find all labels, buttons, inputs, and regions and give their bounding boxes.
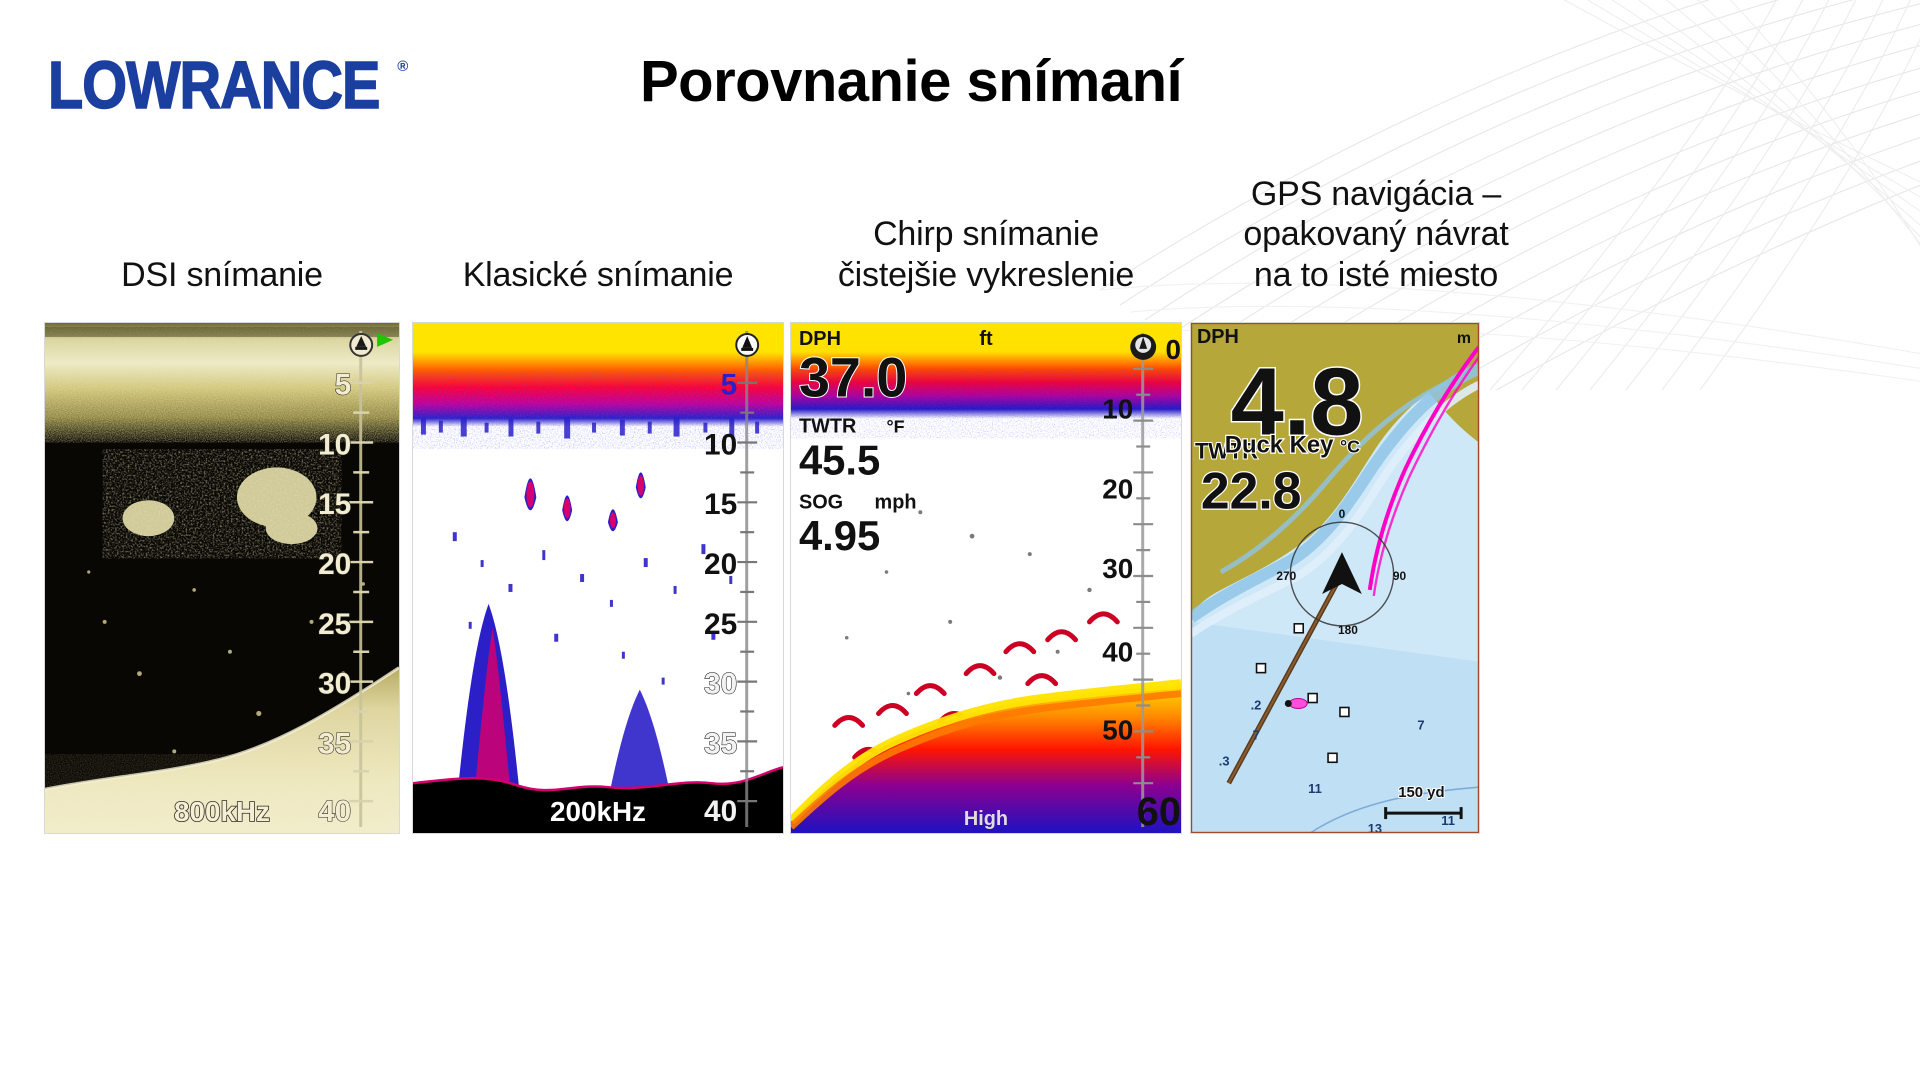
depth-tick-40: 40	[1102, 637, 1133, 668]
svg-text:45.5: 45.5	[799, 436, 880, 483]
depth-tick-35: 35	[704, 727, 737, 760]
sounding-7a: 7	[1253, 727, 1260, 742]
sonar-screen-classic: 5 10 15 20 25 30 35 40 200kHz	[412, 322, 784, 834]
depth-tick-50: 50	[1102, 714, 1133, 745]
compass-label-270: 270	[1276, 569, 1296, 583]
depth-tick-40: 40	[704, 795, 737, 828]
caption-line: Chirp snímanie	[790, 214, 1182, 255]
svg-text:m: m	[1457, 330, 1471, 347]
sounding-13: 13	[1368, 821, 1382, 833]
svg-text:22.8: 22.8	[1201, 461, 1301, 519]
depth-tick-10: 10	[704, 428, 737, 461]
svg-text:SOG: SOG	[799, 491, 843, 513]
svg-text:4.95: 4.95	[799, 512, 880, 559]
depth-tick-60: 60	[1137, 790, 1181, 833]
slide-canvas: LOWRANCE ® Porovnanie snímaní DSI sníman…	[0, 0, 1920, 1080]
depth-tick-25: 25	[704, 608, 737, 641]
depth-tick-5: 5	[335, 369, 352, 402]
svg-text:ft: ft	[979, 328, 993, 350]
brand-wordmark: LOWRANCE	[48, 52, 379, 119]
depth-tick-30: 30	[1102, 553, 1133, 584]
svg-text:°C: °C	[1340, 436, 1360, 456]
depth-tick-15: 15	[318, 488, 351, 521]
depth-tick-30: 30	[318, 668, 351, 701]
caption-line: na to isté miesto	[1190, 255, 1562, 296]
sounding-3: .3	[1219, 753, 1230, 768]
sounding-2: .2	[1251, 697, 1262, 712]
svg-text:37.0: 37.0	[799, 347, 907, 409]
compass-label-0: 0	[1339, 507, 1346, 521]
lowrance-logo: LOWRANCE ®	[48, 52, 408, 112]
svg-text:mph: mph	[875, 491, 917, 513]
depth-tick-5: 5	[721, 369, 738, 402]
svg-text:DPH: DPH	[1197, 326, 1239, 348]
svg-text:TWTR: TWTR	[799, 416, 856, 438]
column-caption-classic: Klasické snímanie	[412, 255, 784, 296]
depth-tick-10: 10	[318, 428, 351, 461]
column-caption-gps: GPS navigácia –opakovaný návratna to ist…	[1190, 174, 1562, 296]
registered-trademark-icon: ®	[397, 58, 408, 75]
sonar-screen-chirp: DPH ft 37.0 TWTR °F 45.5 SOG mph 4.95	[790, 322, 1182, 834]
column-caption-chirp: Chirp snímaniečistejšie vykreslenie	[790, 214, 1182, 296]
depth-tick-30: 30	[704, 668, 737, 701]
frequency-label-classic: 200kHz	[550, 796, 646, 827]
sounding-11b: 11	[1441, 813, 1455, 828]
depth-tick-15: 15	[704, 488, 737, 521]
caption-line: opakovaný návrat	[1190, 214, 1562, 255]
depth-tick-10: 10	[1102, 394, 1133, 425]
svg-text:150 yd: 150 yd	[1398, 785, 1444, 801]
gps-chart-screen: 0 90 180 270	[1190, 322, 1480, 834]
caption-line: Klasické snímanie	[412, 255, 784, 296]
depth-tick-20: 20	[704, 548, 737, 581]
caption-line: DSI snímanie	[44, 255, 400, 296]
mode-label-chirp: High	[964, 808, 1008, 830]
place-label: Duck Key	[1225, 431, 1334, 458]
depth-tick-20: 20	[1102, 473, 1133, 504]
depth-tick-25: 25	[318, 608, 351, 641]
depth-tick-20: 20	[318, 548, 351, 581]
column-caption-dsi: DSI snímanie	[44, 255, 400, 296]
compass-label-180: 180	[1338, 623, 1358, 637]
slide-header: LOWRANCE ® Porovnanie snímaní	[0, 0, 1920, 160]
sounding-11a: 11	[1308, 781, 1322, 796]
sonar-screen-dsi: 5 10 15 20 25 30 35 40 800kHz	[44, 322, 400, 834]
page-title: Porovnanie snímaní	[640, 48, 1182, 115]
depth-tick-35: 35	[318, 727, 351, 760]
sounding-7b: 7	[1417, 717, 1424, 732]
depth-tick-40: 40	[318, 795, 351, 828]
caption-line: GPS navigácia –	[1190, 174, 1562, 215]
depth-tick-0: 0	[1166, 334, 1181, 365]
frequency-label-dsi: 800kHz	[174, 796, 270, 827]
caption-line: čistejšie vykreslenie	[790, 255, 1182, 296]
compass-label-90: 90	[1393, 569, 1407, 583]
svg-text:°F: °F	[887, 417, 905, 437]
